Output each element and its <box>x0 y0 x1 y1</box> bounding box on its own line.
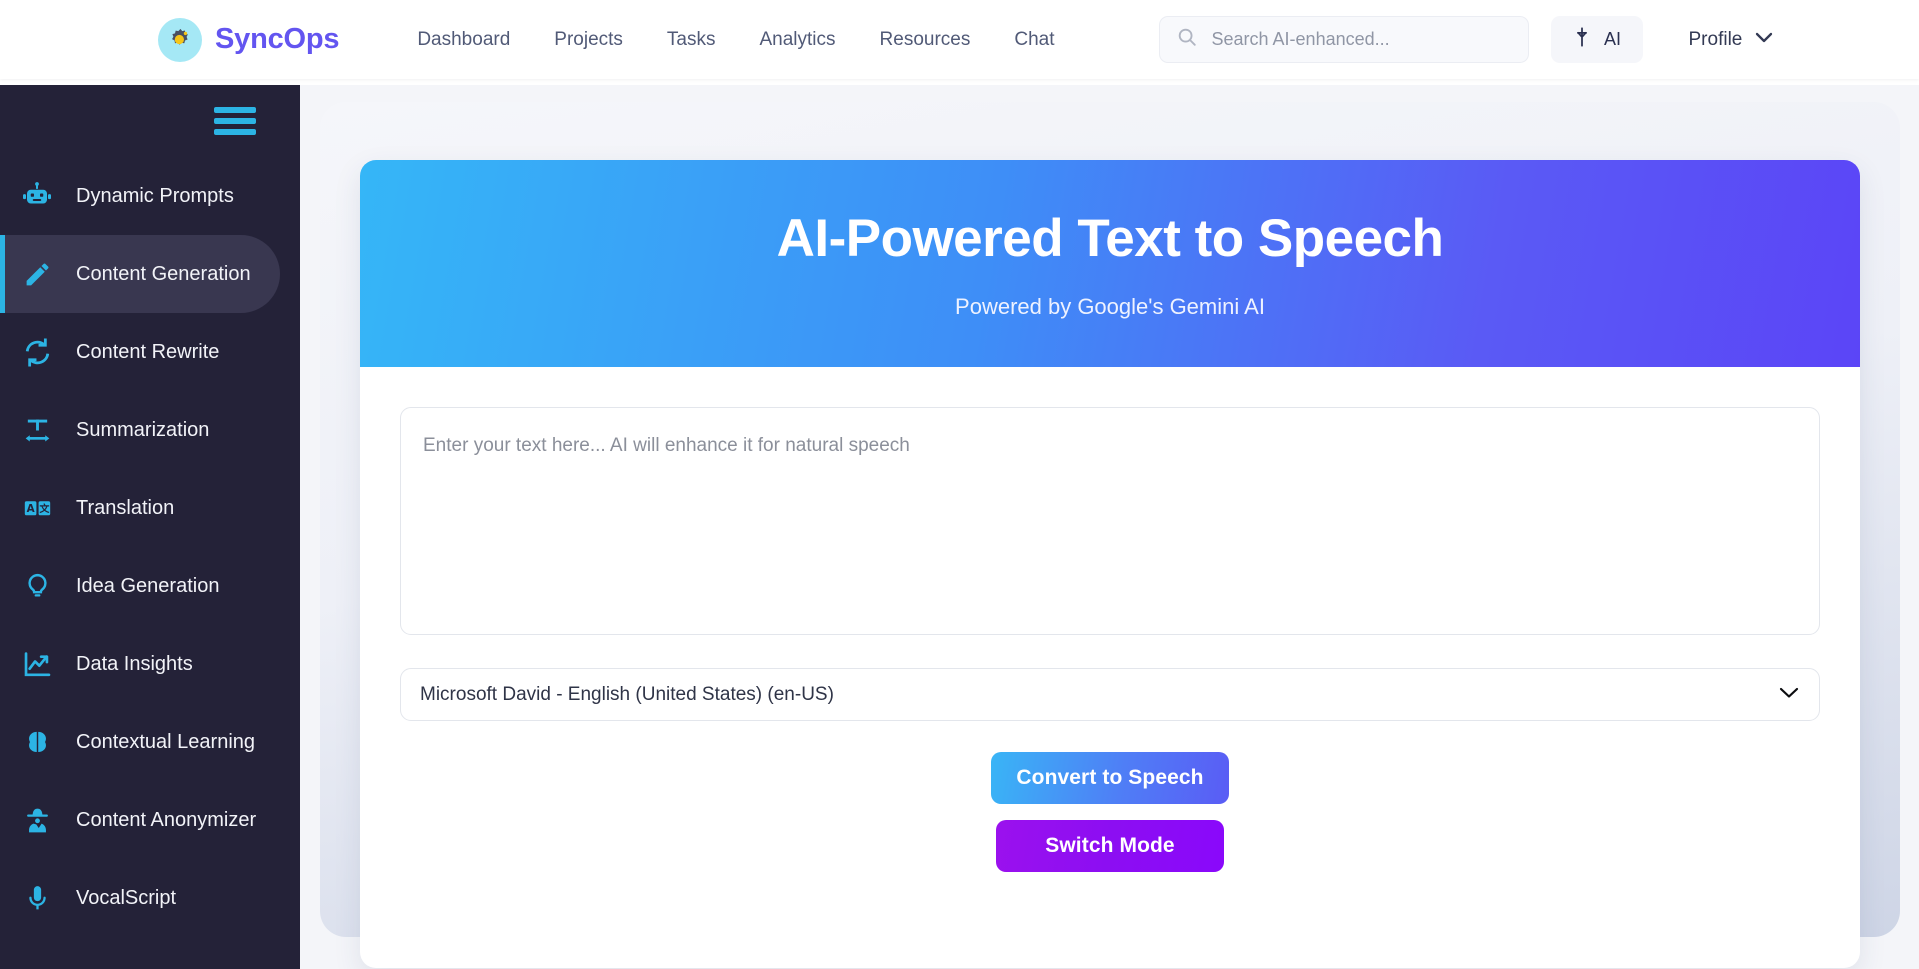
nav-link-chat[interactable]: Chat <box>1014 29 1054 51</box>
action-buttons: Convert to Speech Switch Mode <box>400 752 1820 872</box>
sidebar-item-label: Summarization <box>76 419 209 442</box>
nav-link-dashboard[interactable]: Dashboard <box>417 29 510 51</box>
line-chart-icon <box>20 647 54 681</box>
nav-link-resources[interactable]: Resources <box>880 29 971 51</box>
search-input[interactable] <box>1212 29 1512 50</box>
search-box[interactable] <box>1159 16 1529 63</box>
sidebar-item-label: Idea Generation <box>76 575 219 598</box>
sparkle-icon <box>1572 26 1592 53</box>
page-title: AI-Powered Text to Speech <box>777 208 1444 269</box>
convert-to-speech-button[interactable]: Convert to Speech <box>991 752 1229 804</box>
tts-card: AI-Powered Text to Speech Powered by Goo… <box>360 160 1860 968</box>
nav-link-projects[interactable]: Projects <box>554 29 623 51</box>
switch-mode-button[interactable]: Switch Mode <box>996 820 1224 872</box>
sidebar-item-label: Data Insights <box>76 653 193 676</box>
brand-name: SyncOps <box>215 23 339 56</box>
spy-icon <box>20 803 54 837</box>
microphone-icon <box>20 881 54 915</box>
sidebar-item-label: Content Anonymizer <box>76 809 256 832</box>
sidebar-item-summarization[interactable]: Summarization <box>0 391 300 469</box>
sidebar-item-content-rewrite[interactable]: Content Rewrite <box>0 313 300 391</box>
brand[interactable]: SyncOps <box>158 18 339 62</box>
hamburger-icon[interactable] <box>214 107 256 135</box>
primary-nav: Dashboard Projects Tasks Analytics Resou… <box>417 29 1054 51</box>
nav-link-tasks[interactable]: Tasks <box>667 29 716 51</box>
chevron-down-icon <box>1754 31 1774 49</box>
sidebar-item-content-generation[interactable]: Content Generation <box>0 235 280 313</box>
gear-sun-icon <box>158 18 202 62</box>
ai-button[interactable]: AI <box>1551 16 1643 63</box>
sidebar-item-label: Dynamic Prompts <box>76 185 234 208</box>
sidebar-item-idea-generation[interactable]: Idea Generation <box>0 547 300 625</box>
sidebar-item-data-insights[interactable]: Data Insights <box>0 625 300 703</box>
voice-select-wrapper: Microsoft David - English (United States… <box>400 668 1820 721</box>
sidebar: Dynamic Prompts Content Generation Conte… <box>0 85 300 969</box>
sidebar-item-vocalscript[interactable]: VocalScript <box>0 859 300 937</box>
sidebar-item-label: Content Rewrite <box>76 341 219 364</box>
text-resize-icon <box>20 413 54 447</box>
content-panel: AI-Powered Text to Speech Powered by Goo… <box>320 102 1900 937</box>
refresh-icon <box>20 335 54 369</box>
sidebar-menu: Dynamic Prompts Content Generation Conte… <box>0 157 300 937</box>
sidebar-item-label: Contextual Learning <box>76 731 255 754</box>
sidebar-item-content-anonymizer[interactable]: Content Anonymizer <box>0 781 300 859</box>
ai-button-label: AI <box>1604 29 1621 50</box>
profile-label: Profile <box>1689 29 1743 51</box>
brain-icon <box>20 725 54 759</box>
top-navbar: SyncOps Dashboard Projects Tasks Analyti… <box>0 0 1919 79</box>
svg-text:文: 文 <box>39 502 49 515</box>
sidebar-item-contextual-learning[interactable]: Contextual Learning <box>0 703 300 781</box>
tts-form: Microsoft David - English (United States… <box>360 367 1860 872</box>
nav-link-analytics[interactable]: Analytics <box>760 29 836 51</box>
pencil-icon <box>20 257 54 291</box>
svg-text:A: A <box>26 503 34 515</box>
voice-select[interactable]: Microsoft David - English (United States… <box>400 668 1820 721</box>
page-subtitle: Powered by Google's Gemini AI <box>955 294 1265 320</box>
sidebar-item-label: VocalScript <box>76 887 176 910</box>
sidebar-item-label: Content Generation <box>76 263 251 286</box>
translate-icon: A 文 <box>20 491 54 525</box>
sidebar-item-dynamic-prompts[interactable]: Dynamic Prompts <box>0 157 300 235</box>
search-icon <box>1176 26 1198 53</box>
hero-banner: AI-Powered Text to Speech Powered by Goo… <box>360 160 1860 367</box>
profile-menu[interactable]: Profile <box>1689 29 1775 51</box>
tts-text-input[interactable] <box>400 407 1820 635</box>
sidebar-item-label: Translation <box>76 497 174 520</box>
sidebar-item-translation[interactable]: A 文 Translation <box>0 469 300 547</box>
main-content: AI-Powered Text to Speech Powered by Goo… <box>300 85 1919 969</box>
robot-icon <box>20 179 54 213</box>
lightbulb-icon <box>20 569 54 603</box>
